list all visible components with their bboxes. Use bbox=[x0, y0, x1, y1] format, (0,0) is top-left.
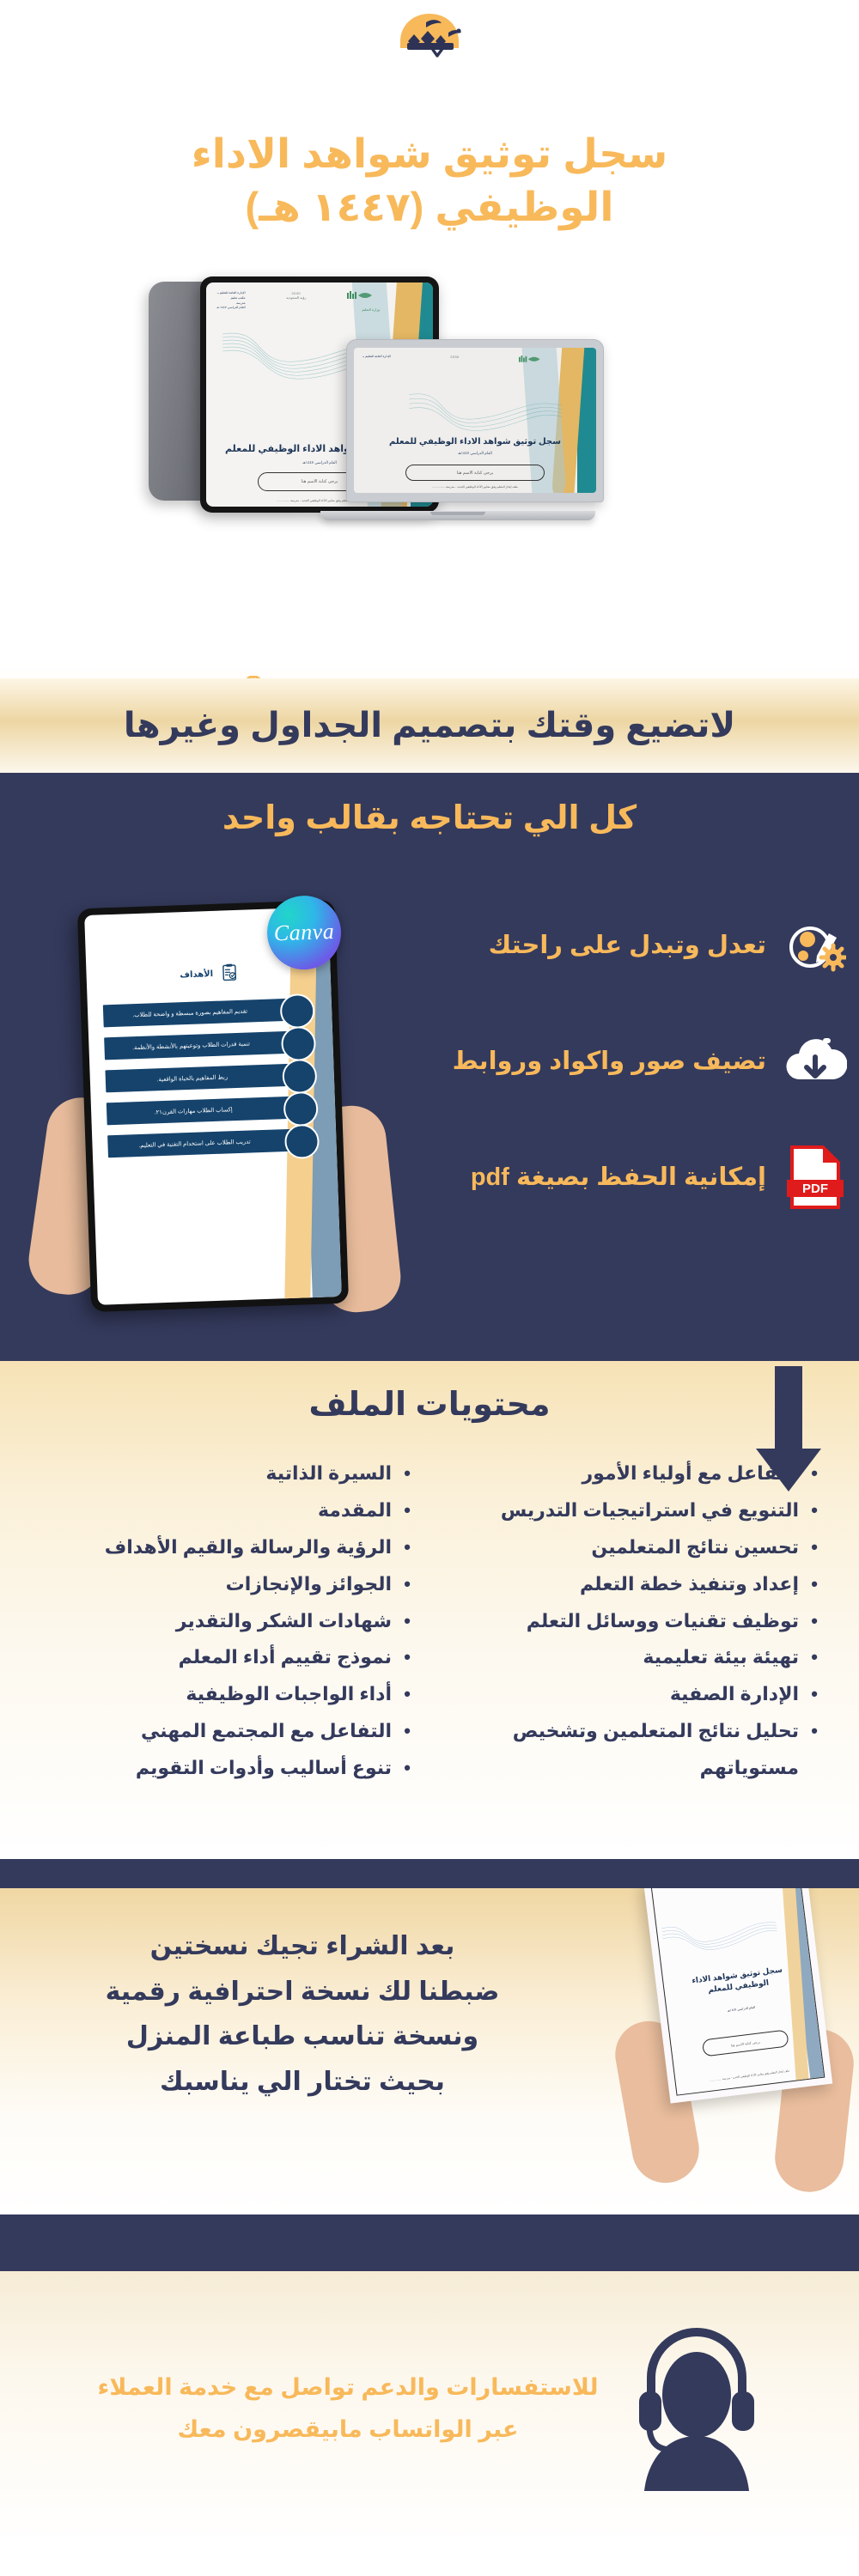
laptop-base bbox=[320, 511, 595, 520]
cover-moe-logo bbox=[519, 355, 546, 370]
cover-vision-logo: 2030 رؤية السعودية bbox=[286, 291, 306, 300]
laptop-mockup: 2030 الإدارة العامة للتعليم بـ سجل تو bbox=[329, 339, 604, 524]
doc-name-placeholder: يرجى كتابة الاسم هنا bbox=[731, 2039, 760, 2047]
preview-bullet: تقديم المفاهيم بصورة مبسطة و واضحة للطلا… bbox=[103, 998, 302, 1027]
doc-name-field: يرجى كتابة الاسم هنا bbox=[702, 2029, 789, 2057]
preview-bullet: ربط المفاهيم بالحياة الواقعية. bbox=[105, 1063, 303, 1092]
footer-line1: للاستفسارات والدعم تواصل مع خدمة العملاء bbox=[98, 2374, 599, 2400]
section-divider bbox=[0, 1859, 859, 1888]
preview-heading: الأهداف bbox=[180, 969, 213, 980]
preview-bullet: تنمية قدرات الطلاب وتوعيتهم بالأنشطة وال… bbox=[104, 1030, 302, 1060]
doc-title: سجل توثيق شواهد الاداء الوظيفي للمعلم bbox=[675, 1962, 801, 1999]
contents-list-right: السيرة الذاتية المقدمة الرؤية والرسالة و… bbox=[41, 1455, 411, 1787]
doc-wave-graphic bbox=[657, 1901, 783, 1969]
feature-item: PDF إمكانية الحفظ بصيغة pdf bbox=[400, 1119, 847, 1235]
contents-columns: التفاعل مع أولياء الأمور التنويع في استر… bbox=[0, 1455, 859, 1787]
list-item: أداء الواجبات الوظيفية bbox=[41, 1676, 411, 1713]
list-item: تحسين نتائج المتعلمين bbox=[448, 1529, 818, 1566]
list-item: تنوع أساليب وأدوات التقويم bbox=[41, 1750, 411, 1787]
pdf-file-icon: PDF bbox=[783, 1145, 847, 1209]
tablet-preview-mockup: Canva bbox=[77, 900, 349, 1312]
infographic-page: سجل توثيق شواهد الاداء الوظيفي (١٤٤٧ هـ) bbox=[0, 0, 859, 2576]
list-item: المقدمة bbox=[41, 1492, 411, 1529]
purchase-section: بعد الشراء تجيك نسختين ضبطنا لك نسخة احت… bbox=[0, 1888, 859, 2215]
feature-label: تعدل وتبدل على راحتك bbox=[489, 930, 766, 960]
cover-vision-number: 2030 bbox=[450, 355, 460, 359]
contents-list-left: التفاعل مع أولياء الأمور التنويع في استر… bbox=[448, 1455, 818, 1787]
cream-headline-band: لاتضيع وقتك بتصميم الجداول وغيرها bbox=[0, 678, 859, 773]
purchase-line1: بعد الشراء تجيك نسختين bbox=[150, 1932, 455, 1960]
preview-bullet: تدريب الطلاب على استخدام التقنية في التع… bbox=[107, 1128, 306, 1157]
list-item: تهيئة بيئة تعليمية bbox=[448, 1639, 818, 1676]
headset-support-agent-icon bbox=[632, 2316, 761, 2500]
features-section: تعدل وتبدل على راحتك تضيف صور واكواد ورو… bbox=[0, 863, 859, 1361]
hero-title-line1: سجل توثيق شواهد الاداء bbox=[192, 131, 667, 176]
canva-label: Canva bbox=[273, 919, 334, 946]
laptop-lid: 2030 الإدارة العامة للتعليم بـ سجل تو bbox=[346, 339, 604, 502]
page-title: سجل توثيق شواهد الاداء الوظيفي (١٤٤٧ هـ) bbox=[0, 127, 859, 234]
list-item: إعداد وتنفيذ خطة التعلم bbox=[448, 1566, 818, 1603]
brand-logo bbox=[382, 10, 477, 64]
footer-divider bbox=[0, 2215, 859, 2271]
doc-subtitle: العام الدراسي ١٤٤٧هـ bbox=[679, 2000, 802, 2019]
cloud-download-icon bbox=[783, 1030, 847, 1093]
preview-bullet: إكساب الطلاب مهارات القرن٢١. bbox=[107, 1096, 305, 1125]
laptop-screen: 2030 الإدارة العامة للتعليم بـ سجل تو bbox=[354, 348, 596, 493]
footer-text: للاستفسارات والدعم تواصل مع خدمة العملاء… bbox=[98, 2366, 599, 2450]
cover-subtitle: العام الدراسي ١٤٤٧هـ bbox=[369, 451, 581, 456]
cream-headline: لاتضيع وقتك بتصميم الجداول وغيرها bbox=[124, 706, 735, 745]
footer-section: للاستفسارات والدعم تواصل مع خدمة العملاء… bbox=[0, 2271, 859, 2546]
purchase-line3: ونسخة تناسب طباعة المنزل bbox=[126, 2022, 478, 2050]
printed-document-mockup: سجل توثيق شواهد الاداء الوظيفي للمعلم ال… bbox=[643, 1888, 833, 2104]
feature-label: إمكانية الحفظ بصيغة pdf bbox=[471, 1162, 766, 1192]
hands-holding-tablet: Canva bbox=[22, 870, 426, 1351]
footer-content: للاستفسارات والدعم تواصل مع خدمة العملاء… bbox=[0, 2316, 859, 2500]
contents-column-left: التفاعل مع أولياء الأمور التنويع في استر… bbox=[448, 1455, 818, 1787]
cover-admin-block: الإدارة العامة للتعليم بـ مكتب تعليم مدر… bbox=[216, 291, 246, 311]
clipboard-check-icon bbox=[222, 963, 237, 984]
cover-name-field: يرجى كتابة الاسم هنا bbox=[405, 465, 545, 481]
list-item: التفاعل مع المجتمع المهني bbox=[41, 1713, 411, 1750]
feature-item: تضيف صور واكواد وروابط bbox=[400, 1003, 847, 1119]
list-item: توظيف تقنيات ووسائل التعلم bbox=[448, 1603, 818, 1640]
document-page: سجل توثيق شواهد الاداء الوظيفي للمعلم ال… bbox=[651, 1888, 825, 2096]
contents-column-right: السيرة الذاتية المقدمة الرؤية والرسالة و… bbox=[41, 1455, 411, 1787]
list-item: الرؤية والرسالة والقيم الأهداف bbox=[41, 1529, 411, 1566]
preview-bullet-list: تقديم المفاهيم بصورة مبسطة و واضحة للطلا… bbox=[103, 998, 306, 1168]
hero-title-line2: الوظيفي (١٤٤٧ هـ) bbox=[246, 184, 614, 229]
cover-header: 2030 الإدارة العامة للتعليم بـ bbox=[362, 355, 546, 370]
svg-text:PDF: PDF bbox=[802, 1182, 828, 1196]
cover-title: سجل توثيق شواهد الاداء الوظيفي للمعلم bbox=[369, 436, 581, 449]
footer-line2: عبر الواتساب مابيقصرون معك bbox=[178, 2416, 519, 2442]
cover-year: العام الدراسي ١٤٤٧ هـ bbox=[216, 306, 246, 311]
purchase-line4: بحيث تختار الي يناسبك bbox=[160, 2068, 445, 2096]
hands-holding-document: سجل توثيق شواهد الاداء الوظيفي للمعلم ال… bbox=[570, 1888, 854, 2215]
cover-header: وزارة التعليم 2030 رؤية السعودية الإدارة… bbox=[216, 291, 380, 312]
cover-wave-graphic bbox=[404, 386, 567, 439]
pencil-gear-edit-icon bbox=[783, 914, 847, 977]
cover-admin: الإدارة العامة للتعليم بـ bbox=[216, 291, 246, 296]
list-item: التنويع في استراتيجيات التدريس bbox=[448, 1492, 818, 1529]
list-item: شهادات الشكر والتقدير bbox=[41, 1603, 411, 1640]
list-item: نموذج تقييم أداء المعلم bbox=[41, 1639, 411, 1676]
purchase-line2: ضبطنا لك نسخة احترافية رقمية bbox=[106, 1978, 500, 2006]
purchase-text: بعد الشراء تجيك نسختين ضبطنا لك نسخة احت… bbox=[29, 1924, 576, 2105]
list-item: تحليل نتائج المتعلمين وتشخيص مستوياتهم bbox=[448, 1713, 818, 1787]
device-mockups: وزارة التعليم 2030 رؤية السعودية الإدارة… bbox=[116, 258, 777, 601]
cover-admin: الإدارة العامة للتعليم بـ bbox=[362, 355, 391, 360]
feature-label: تضيف صور واكواد وروابط bbox=[453, 1046, 766, 1076]
navy-headline: كل الي تحتاجه بقالب واحد bbox=[222, 799, 637, 837]
features-list: تعدل وتبدل على راحتك تضيف صور واكواد ورو… bbox=[400, 887, 847, 1235]
contents-section: محتويات الملف التفاعل مع أولياء الأمور ا… bbox=[0, 1361, 859, 1859]
laptop-notch bbox=[430, 512, 485, 515]
contents-title: محتويات الملف bbox=[0, 1361, 859, 1424]
motqan-logo-icon bbox=[388, 12, 471, 62]
cover-moe-logo: وزارة التعليم bbox=[347, 291, 380, 312]
feature-item: تعدل وتبدل على راحتك bbox=[400, 887, 847, 1003]
cover-vision-label: رؤية السعودية bbox=[286, 295, 306, 300]
list-item: الإدارة الصفية bbox=[448, 1676, 818, 1713]
list-item: السيرة الذاتية bbox=[41, 1455, 411, 1492]
list-item: الجوائز والإنجازات bbox=[41, 1566, 411, 1603]
cover-moe-label: وزارة التعليم bbox=[347, 307, 380, 312]
list-item: التفاعل مع أولياء الأمور bbox=[448, 1455, 818, 1492]
cover-name-placeholder: يرجى كتابة الاسم هنا bbox=[457, 471, 494, 476]
navy-headline-band: كل الي تحتاجه بقالب واحد bbox=[0, 773, 859, 863]
cover-footer-note: ملف إنجاز المعلم وفق معايير الأداء الوظي… bbox=[362, 485, 588, 489]
hero-section: سجل توثيق شواهد الاداء الوظيفي (١٤٤٧ هـ) bbox=[0, 0, 859, 678]
